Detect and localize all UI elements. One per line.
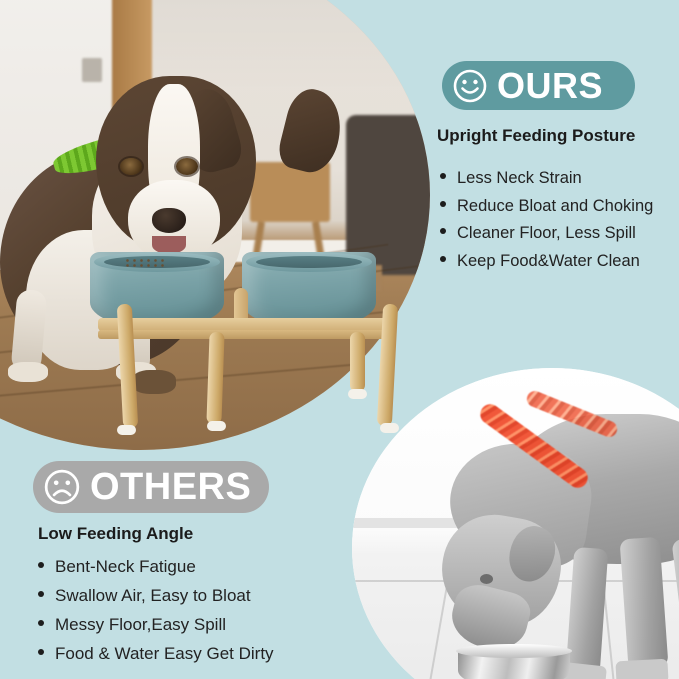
others-subhead: Low Feeding Angle <box>38 524 193 544</box>
list-item-label: Cleaner Floor, Less Spill <box>457 225 636 242</box>
others-badge: OTHERS <box>33 461 269 513</box>
bullet-dot-icon <box>38 649 44 655</box>
dog-front-leg <box>10 289 47 373</box>
product-comparison-infographic: OURS Upright Feeding Posture Less Neck S… <box>0 0 679 679</box>
bullet-dot-icon <box>38 591 44 597</box>
dog-eye-right <box>176 158 198 175</box>
stand-lower-rail <box>98 330 388 339</box>
others-badge-label: OTHERS <box>90 468 251 506</box>
list-item: Cleaner Floor, Less Spill <box>440 225 653 242</box>
list-item: Bent-Neck Fatigue <box>38 558 274 575</box>
list-item: Swallow Air, Easy to Bloat <box>38 587 274 604</box>
dog-nose <box>152 208 186 233</box>
ours-subhead: Upright Feeding Posture <box>437 126 635 146</box>
bullet-dot-icon <box>440 201 446 207</box>
dog-paw <box>8 362 48 382</box>
dog-eye <box>480 574 493 584</box>
bowl-rim <box>456 644 572 658</box>
bullet-dot-icon <box>440 228 446 234</box>
dog-eye-left <box>120 158 142 175</box>
stand-foot-pad <box>207 421 226 431</box>
stand-leg <box>206 332 224 424</box>
bullet-dot-icon <box>38 562 44 568</box>
list-item: Less Neck Strain <box>440 170 653 187</box>
list-item: Messy Floor,Easy Spill <box>38 616 274 633</box>
ours-badge-label: OURS <box>497 68 603 104</box>
list-item-label: Keep Food&Water Clean <box>457 253 640 270</box>
smiley-face-icon <box>452 68 488 104</box>
list-item-label: Bent-Neck Fatigue <box>55 558 196 575</box>
list-item: Keep Food&Water Clean <box>440 253 653 270</box>
steel-floor-bowl <box>444 648 584 679</box>
ours-benefit-list: Less Neck Strain Reduce Bloat and Chokin… <box>440 170 653 280</box>
bullet-dot-icon <box>440 256 446 262</box>
teal-bowl-right <box>242 252 376 328</box>
dog-paw <box>615 659 668 679</box>
others-drawback-list: Bent-Neck Fatigue Swallow Air, Easy to B… <box>38 558 274 674</box>
photo-others-floor-feeding <box>352 368 679 679</box>
bowl-interior <box>256 256 362 268</box>
list-item: Food & Water Easy Get Dirty <box>38 645 274 662</box>
list-item-label: Less Neck Strain <box>457 170 582 187</box>
list-item-label: Reduce Bloat and Choking <box>457 198 653 215</box>
bullet-dot-icon <box>440 173 446 179</box>
stand-foot-pad <box>117 425 136 435</box>
ours-badge: OURS <box>442 61 635 110</box>
grayscale-dog <box>392 388 679 679</box>
bullet-dot-icon <box>38 620 44 626</box>
sad-face-icon <box>43 468 81 506</box>
list-item: Reduce Bloat and Choking <box>440 198 653 215</box>
teal-bowl-left <box>90 252 224 328</box>
list-item-label: Swallow Air, Easy to Bloat <box>55 587 251 604</box>
list-item-label: Food & Water Easy Get Dirty <box>55 645 274 662</box>
kibble-food <box>124 258 168 267</box>
list-item-label: Messy Floor,Easy Spill <box>55 616 226 633</box>
dog-hind-leg <box>671 536 679 649</box>
